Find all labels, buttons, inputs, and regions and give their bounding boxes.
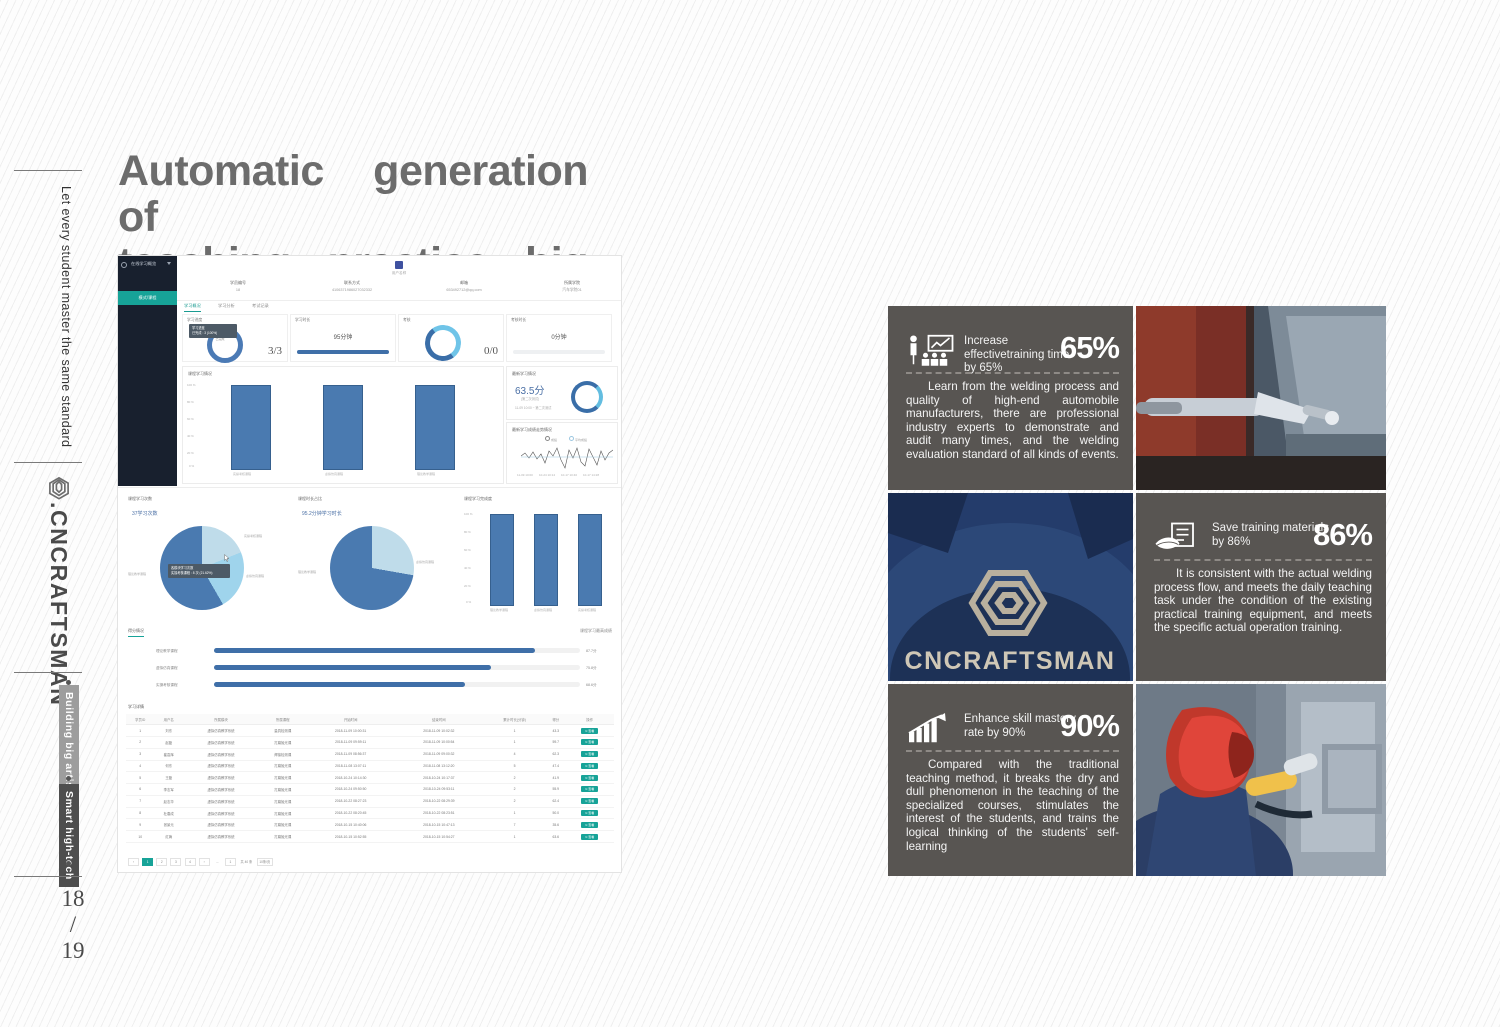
document-leaf-icon [1154,521,1202,553]
study-count-title: 课程学习次数 [128,496,152,502]
card2-body: It is consistent with the actual welding… [1154,567,1372,635]
panel-study-details: 学习详情 学员ID用户名所属模块所属课程开始时间结束时间累计时长(分钟)得分操作… [126,704,614,866]
page-size-select[interactable]: 10条/页 [257,858,273,866]
view-button[interactable]: ⊙ 查看 [581,786,598,792]
table-cell: 62.3 [546,748,565,760]
table-cell: 2018-10-24 09:53:11 [395,784,483,796]
table-cell: 2018-11-09 10:02:32 [395,725,483,737]
table-cell: 虚拟仿真教学系统 [183,831,259,843]
table-cell: 王磊 [155,772,184,784]
card1-divider [906,372,1119,374]
table-cell: 10 [126,831,155,843]
table-cell: 55.9 [546,784,565,796]
table-cell: 虚拟仿真教学系统 [183,795,259,807]
table-cell-action[interactable]: ⊙ 查看 [565,819,614,831]
rail-divider-top [14,170,82,171]
table-row: 5王磊虚拟仿真教学系统打磨抛光课2018-10-24 10:14:302018-… [126,772,614,784]
score-row-2-name: 虚拟仿真课程 [156,666,178,671]
card2-head: Save training materials by 86% 86% [1154,521,1372,555]
pagination-next[interactable]: › [199,858,210,866]
view-button[interactable]: ⊙ 查看 [581,763,598,769]
table-cell: 63.6 [546,831,565,843]
table-cell: 打磨抛光课 [259,831,307,843]
table-cell: 3 [126,748,155,760]
score-row-3-name: 实操考核课程 [156,683,178,688]
table-cell: 2 [483,784,546,796]
page-title-line1: Automatic generation of [118,148,588,240]
table-cell: 4 [126,760,155,772]
table-cell: 2018-10-24 09:50:50 [307,784,395,796]
tab-exams[interactable]: 考试记录 [252,303,269,309]
welding-robot-photo [1136,306,1386,490]
score-row-2-value: 75.8分 [586,666,597,671]
table-col-2: 所属模块 [183,714,259,725]
card-increase-effective-training: Increase effectivetraining time by 65% 6… [888,306,1133,490]
pagination-page-3[interactable]: 3 [170,858,181,866]
view-button[interactable]: ⊙ 查看 [581,751,598,757]
table-cell: 62.4 [546,795,565,807]
kpi-assessment-value: 0/0 [484,345,498,357]
ytick-100: 100 % [187,383,196,387]
ytick-40: 40 % [187,434,194,438]
table-cell: 2018-11-09 10:00:54 [395,736,483,748]
table-row: 6李志军虚拟仿真教学系统打磨抛光课2018-10-24 09:50:502018… [126,784,614,796]
table-cell: 打磨抛光课 [259,784,307,796]
view-button[interactable]: ⊙ 查看 [581,739,598,745]
table-cell: 1 [483,725,546,737]
table-cell: 虚拟仿真教学系统 [183,725,259,737]
sidebar-bullet-icon [121,262,127,268]
kpi-study-time-value: 95分钟 [291,332,395,341]
table-cell: 2018-11-08 13:07:11 [307,760,395,772]
table-row: 8杜春成虚拟仿真教学系统打磨抛光课2018-10-22 08:20:452018… [126,807,614,819]
card2-percent: 86% [1313,517,1372,553]
table-row: 1刘东虚拟仿真教学系统量具检测课2018-11-09 10:00:312018-… [126,725,614,737]
sidebar-item-active[interactable]: 模式/课程 [118,291,177,305]
table-cell: 赵志华 [155,795,184,807]
score-trend-title: 最新学习成绩走势情况 [512,427,552,433]
xtick-progress-2: 虚拟仿真课程 [325,472,343,476]
tooltip-line: 已完成 : 3 (100%) [192,331,234,336]
trend-line-svg [521,442,613,470]
table-cell: 打磨抛光课 [259,772,307,784]
scores-title: 得分情况 [128,628,144,637]
table-title: 学习详情 [128,704,144,710]
pagination-prev[interactable]: ‹ [128,858,139,866]
kpi-assessment: 考核 0/0 [398,314,504,362]
panel-scores: 得分情况 课程学习最高成绩 理论教学课程 87.7分 虚拟仿真课程 75.8分 … [126,628,614,700]
table-cell: 1 [483,807,546,819]
completion-ytick-80: 80 % [464,530,471,534]
scores-right-title: 课程学习最高成绩 [580,628,612,634]
table-col-4: 开始时间 [307,714,395,725]
completion-ytick-60: 60 % [464,548,471,552]
table-row: 7赵志华虚拟仿真教学系统打磨抛光课2018-10-22 08:27:232018… [126,795,614,807]
ytick-80: 80 % [187,400,194,404]
table-cell: 打磨抛光课 [259,736,307,748]
bar-progress-2 [323,385,363,470]
table-cell: 8 [126,807,155,819]
table-cell-action[interactable]: ⊙ 查看 [565,795,614,807]
table-cell: 虚拟仿真教学系统 [183,784,259,796]
table-cell: 2018-10-22 08:29:39 [395,795,483,807]
kpi-assessment-time-label: 考核时长 [511,318,526,323]
table-cell: 2018-10-15 10:40:06 [307,819,395,831]
table-cell: 何东 [155,760,184,772]
table-cell: 虚拟仿真教学系统 [183,819,259,831]
avatar-name: 用户名称 [177,271,621,276]
table-cell: 2 [483,772,546,784]
table-cell: 打磨抛光课 [259,819,307,831]
pie-time-label-1: 理论教学课程 [298,570,316,574]
pagination-page-4[interactable]: 4 [185,858,196,866]
completion-ytick-20: 20 % [464,584,471,588]
profile-value-contact: 4106371986027032332 [332,288,372,292]
card3-divider [906,750,1119,752]
card3-head: Enhance skill mastery rate by 90% 90% [906,712,1119,746]
dashboard-sidebar: 在线学习概览 模式/课程 [118,256,177,486]
kpi-progress: 学习进度 已完成 3/3 学习进度 已完成 : 3 (100%) [182,314,288,362]
table-cell: 赵磊 [155,736,184,748]
view-button[interactable]: ⊙ 查看 [581,834,598,840]
table-cell-action[interactable]: ⊙ 查看 [565,772,614,784]
table-cell: 2 [126,736,155,748]
table-cell-action[interactable]: ⊙ 查看 [565,831,614,843]
bar-completion-1 [490,514,514,606]
completion-ytick-100: 100 % [464,512,473,516]
table-cell: 7 [126,795,155,807]
xtick-progress-1: 实操考核课程 [233,472,251,476]
table-cell: 7 [483,819,546,831]
study-time-pie-slices [330,526,414,610]
table-cell: 红铸 [155,831,184,843]
table-row: 3崔嘉辉虚拟仿真教学系统焊接检测课2018-11-09 08:56:372018… [126,748,614,760]
pagination-total: 共 40 条 [239,859,254,865]
table-cell: 2018-11-09 08:56:37 [307,748,395,760]
jacket-photo-art: CNCRAFTSMAN [888,493,1133,681]
profile-label-contact: 联系方式 [297,280,407,286]
bar-completion-3 [578,514,602,606]
completion-xtick-3: 实操考核课程 [578,608,596,612]
latest-score-value: 63.5分 [515,382,544,397]
kpi-assessment-label: 考核 [403,318,411,323]
bar-progress-1 [231,385,271,470]
latest-score-sub: (第二次测试) [521,396,539,401]
latest-score-title: 最新学习情况 [512,371,536,377]
pie-count-label-3: 实操考核课程 [244,534,262,538]
profile-field-email: 邮箱 653492712@qq.com [409,280,519,292]
kpi-assessment-time-value: 0分钟 [507,332,611,341]
page-total: 19 [50,938,96,964]
study-count-caption: 37学习次数 [132,510,158,517]
rail-divider-lower [14,672,82,673]
kpi-progress-label: 学习进度 [187,318,202,323]
view-button[interactable]: ⊙ 查看 [581,775,598,781]
pie-count-label-2: 虚拟仿真课程 [246,574,264,578]
presentation-training-icon [906,334,954,366]
table-cell: 2 [483,795,546,807]
table-cell: 2018-10-22 08:20:45 [307,807,395,819]
ytick-0: 0 % [189,464,194,468]
table-cell-action[interactable]: ⊙ 查看 [565,807,614,819]
latest-score-donut [571,381,603,413]
table-cell: 2018-11-08 13:12:20 [395,760,483,772]
cncraftsman-logo-icon [46,474,72,500]
score-row-1-name: 理论教学课程 [156,649,178,654]
table-row: 2赵磊虚拟仿真教学系统打磨抛光课2018-11-09 09:59:112018-… [126,736,614,748]
rail-divider-mid [14,462,82,463]
trend-xtick-2: 10-24 10:14 [539,473,555,477]
latest-score-time: 11-09 10:00 ~ 第二次测试 [515,405,551,410]
pie-count-label-1: 理论教学课程 [128,572,146,576]
chart-study-time-pie: 课程时长占比 95.2分钟学习时长 理论教学课程 虚拟仿真课程 [296,496,456,622]
table-cell: 9 [126,819,155,831]
rail-tagline: Let every student master the same standa… [59,186,73,447]
table-cell: 41.9 [546,772,565,784]
table-row: 4何东虚拟仿真教学系统打磨抛光课2018-11-08 13:07:112018-… [126,760,614,772]
profile-label-college: 所属学院 [527,280,617,286]
trend-xtick-4: 10-17 14:28 [583,473,599,477]
table-cell: 虚拟仿真教学系统 [183,748,259,760]
table-cell: 打磨抛光课 [259,807,307,819]
profile-field-college: 所属学院 汽车学院01 [527,280,617,293]
card-latest-score: 最新学习情况 63.5分 (第二次测试) 11-09 10:00 ~ 第二次测试 [506,366,618,420]
score-row-1-value: 87.7分 [586,649,597,654]
table-col-7: 得分 [546,714,565,725]
pill-dot-mid [66,776,71,781]
profile-value-college: 汽车学院01 [562,288,581,292]
table-cell: 2018-10-15 10:47:13 [395,819,483,831]
sidebar-header-label: 在线学习概览 [131,261,156,266]
table-col-8: 操作 [565,714,614,725]
pagination-jump-input[interactable]: 1 [225,858,236,866]
sidebar-header[interactable]: 在线学习概览 [118,256,177,271]
table-cell: 李志军 [155,784,184,796]
chart-completion: 课程学习完成度 100 % 80 % 60 % 40 % 20 % 0 % 理论… [462,496,614,622]
table-col-1: 用户名 [155,714,184,725]
dashboard-lower-panel: 课程学习次数 37学习次数 实操考核课程 虚拟仿真课程 理论教学课程 各模块学习… [118,488,621,872]
table-cell: 2018-10-24 10:14:30 [307,772,395,784]
pie-time-label-2: 虚拟仿真课程 [416,560,434,564]
table-body: 1刘东虚拟仿真教学系统量具检测课2018-11-09 10:00:312018-… [126,725,614,843]
profile-field-contact: 联系方式 4106371986027032332 [297,280,407,292]
profile-label-email: 邮箱 [409,280,519,286]
table-col-0: 学员ID [126,714,155,725]
table-cell-action[interactable]: ⊙ 查看 [565,760,614,772]
completion-ytick-0: 0 % [466,600,471,604]
card1-head: Increase effectivetraining time by 65% 6… [906,334,1119,368]
card1-body: Learn from the welding process and quali… [906,380,1119,462]
profile-label-student-id: 学员编号 [193,280,283,286]
pagination-page-1[interactable]: 1 [142,858,153,866]
chart-study-count-pie: 课程学习次数 37学习次数 实操考核课程 虚拟仿真课程 理论教学课程 各模块学习… [126,496,286,622]
table-col-6: 累计时长(分钟) [483,714,546,725]
kpi-study-time: 学习时长 95分钟 [290,314,396,362]
table-cell: 1 [483,831,546,843]
svg-text:CNCRAFTSMAN: CNCRAFTSMAN [905,647,1116,675]
table-cell: 4 [483,748,546,760]
brand-name: .CNCRAFTSMAN [45,502,72,706]
pill-smart-high-tech: Smart high-tech [59,784,79,887]
bar-progress-3 [415,385,455,470]
profile-field-student-id: 学员编号 18 [193,280,283,292]
table-cell: 1 [126,725,155,737]
view-button[interactable]: ⊙ 查看 [581,810,598,816]
score-row-2-fill [214,665,491,670]
table-cell: 2018-11-09 09:00:32 [395,748,483,760]
table-cell-action[interactable]: ⊙ 查看 [565,784,614,796]
study-details-table: 学员ID用户名所属模块所属课程开始时间结束时间累计时长(分钟)得分操作 1刘东虚… [126,714,614,843]
table-cell: 虚拟仿真教学系统 [183,807,259,819]
table-cell: 2018-11-09 10:00:31 [307,725,395,737]
pie-tooltip-line: 实操考核课程 : 8 次 (21.62%) [171,571,227,576]
table-cell: 43.3 [546,725,565,737]
bar-completion-2 [534,514,558,606]
welder-helmet-photo [1136,684,1386,876]
table-cell-action[interactable]: ⊙ 查看 [565,725,614,737]
left-rail: Let every student master the same standa… [0,0,96,1027]
table-header-row: 学员ID用户名所属模块所属课程开始时间结束时间累计时长(分钟)得分操作 [126,714,614,725]
table-cell: 2018-10-15 10:54:27 [395,831,483,843]
pagination[interactable]: ‹ 1 2 3 4 › ... 1 共 40 条 10条/页 [128,858,275,866]
card-enhance-skill-mastery: Enhance skill mastery rate by 90% 90% Co… [888,684,1133,876]
trend-xtick-1: 11-09 10:00 [517,473,533,477]
study-time-caption: 95.2分钟学习时长 [302,510,342,517]
rail-divider-bottom [14,876,82,877]
card2-divider [1154,559,1372,561]
table-cell-action[interactable]: ⊙ 查看 [565,736,614,748]
pagination-page-2[interactable]: 2 [156,858,167,866]
completion-title: 课程学习完成度 [464,496,492,502]
chart-course-progress-title: 课程学习情况 [188,371,212,377]
view-button[interactable]: ⊙ 查看 [581,798,598,804]
score-row-1-fill [214,648,535,653]
table-cell: 杜春成 [155,807,184,819]
table-cell: 打磨抛光课 [259,795,307,807]
card-save-training-materials: Save training materials by 86% 86% It is… [1136,493,1386,681]
kpi-assessment-time: 考核时长 0分钟 [506,314,612,362]
bar-chart-arrow-icon [906,712,954,744]
kpi-progress-tooltip: 学习进度 已完成 : 3 (100%) [189,324,237,338]
table-cell: 刘东 [155,725,184,737]
table-cell: 量具检测课 [259,725,307,737]
mouse-cursor-icon [224,554,229,561]
card1-percent: 65% [1060,330,1119,366]
collage: Increase effectivetraining time by 65% 6… [888,306,1386,876]
completion-xtick-2: 虚拟仿真课程 [534,608,552,612]
page-number: 18 / 19 [50,886,96,964]
completion-xtick-1: 理论教学课程 [490,608,508,612]
table-cell: 虚拟仿真教学系统 [183,772,259,784]
card3-percent: 90% [1060,708,1119,744]
tab-overview[interactable]: 学习概况 [184,303,201,312]
score-row-3-value: 68.6分 [586,683,597,688]
table-cell: 焊接检测课 [259,748,307,760]
avatar [395,261,403,269]
table-cell: 2018-10-22 08:23:51 [395,807,483,819]
legend-marker-score [545,436,550,441]
view-button[interactable]: ⊙ 查看 [581,822,598,828]
kpi-study-time-fill [297,350,389,354]
table-cell: 崔嘉辉 [155,748,184,760]
table-row: 10红铸虚拟仿真教学系统打磨抛光课2018-10-15 10:52:552018… [126,831,614,843]
profile-value-student-id: 18 [236,288,240,292]
table-cell: 6 [126,784,155,796]
view-button[interactable]: ⊙ 查看 [581,728,598,734]
table-cell: 50.0 [546,807,565,819]
completion-ytick-40: 40 % [464,566,471,570]
table-cell: 47.4 [546,760,565,772]
card-score-trend: 最新学习成绩走势情况 成绩 平均成绩 11-09 10:00 10-24 10:… [506,422,618,484]
table-cell: 2018-10-22 08:27:23 [307,795,395,807]
table-cell: 2018-10-24 10:17:37 [395,772,483,784]
chart-course-progress: 课程学习情况 100 % 80 % 60 % 40 % 20 % 0 % 实操考… [182,366,504,484]
table-cell: 5 [126,772,155,784]
table-cell: 1 [483,736,546,748]
tab-analysis[interactable]: 学习分析 [218,303,235,309]
kpi-assessment-donut [423,323,464,364]
table-cell-action[interactable]: ⊙ 查看 [565,748,614,760]
page-separator: / [50,912,96,938]
pill-dot-bottom [66,861,71,866]
page-current: 18 [50,886,96,912]
cncraftsman-jacket-photo: CNCRAFTSMAN [888,493,1133,681]
kpi-assessment-time-track [513,350,605,354]
card3-body: Compared with the traditional teaching m… [906,758,1119,853]
table-cell: 35.6 [546,819,565,831]
pagination-ellipsis: ... [213,859,222,865]
table-col-3: 所属课程 [259,714,307,725]
profile-value-email: 653492712@qq.com [446,288,481,292]
table-row: 9张景元虚拟仿真教学系统打磨抛光课2018-10-15 10:40:062018… [126,819,614,831]
kpi-study-time-label: 学习时长 [295,318,310,323]
legend-marker-average [569,436,574,441]
table-cell: 虚拟仿真教学系统 [183,736,259,748]
table-cell: 虚拟仿真教学系统 [183,760,259,772]
trend-xtick-3: 10-17 10:40 [561,473,577,477]
table-cell: 2018-11-09 09:59:11 [307,736,395,748]
dashboard-screenshot: 在线学习概览 模式/课程 用户名称 学员编号 18 联系方式 410637198… [118,256,621,872]
welder-photo-art [1136,684,1386,876]
table-col-5: 结束时间 [395,714,483,725]
ytick-60: 60 % [187,417,194,421]
dashboard-topbar: 用户名称 学员编号 18 联系方式 4106371986027032332 邮箱… [177,256,621,301]
score-row-3-fill [214,682,465,687]
table-cell: 打磨抛光课 [259,760,307,772]
table-cell: 张景元 [155,819,184,831]
table-cell: 2018-10-15 10:52:55 [307,831,395,843]
chevron-down-icon [167,262,171,265]
table-cell: 59.7 [546,736,565,748]
table-cell: 5 [483,760,546,772]
welding-robot-photo-art [1136,306,1386,490]
ytick-20: 20 % [187,451,194,455]
pie-count-tooltip: 各模块学习次数 实操考核课程 : 8 次 (21.62%) [168,564,230,578]
study-time-title: 课程时长占比 [298,496,322,502]
xtick-progress-3: 理论教学课程 [417,472,435,476]
kpi-progress-value: 3/3 [268,345,282,357]
